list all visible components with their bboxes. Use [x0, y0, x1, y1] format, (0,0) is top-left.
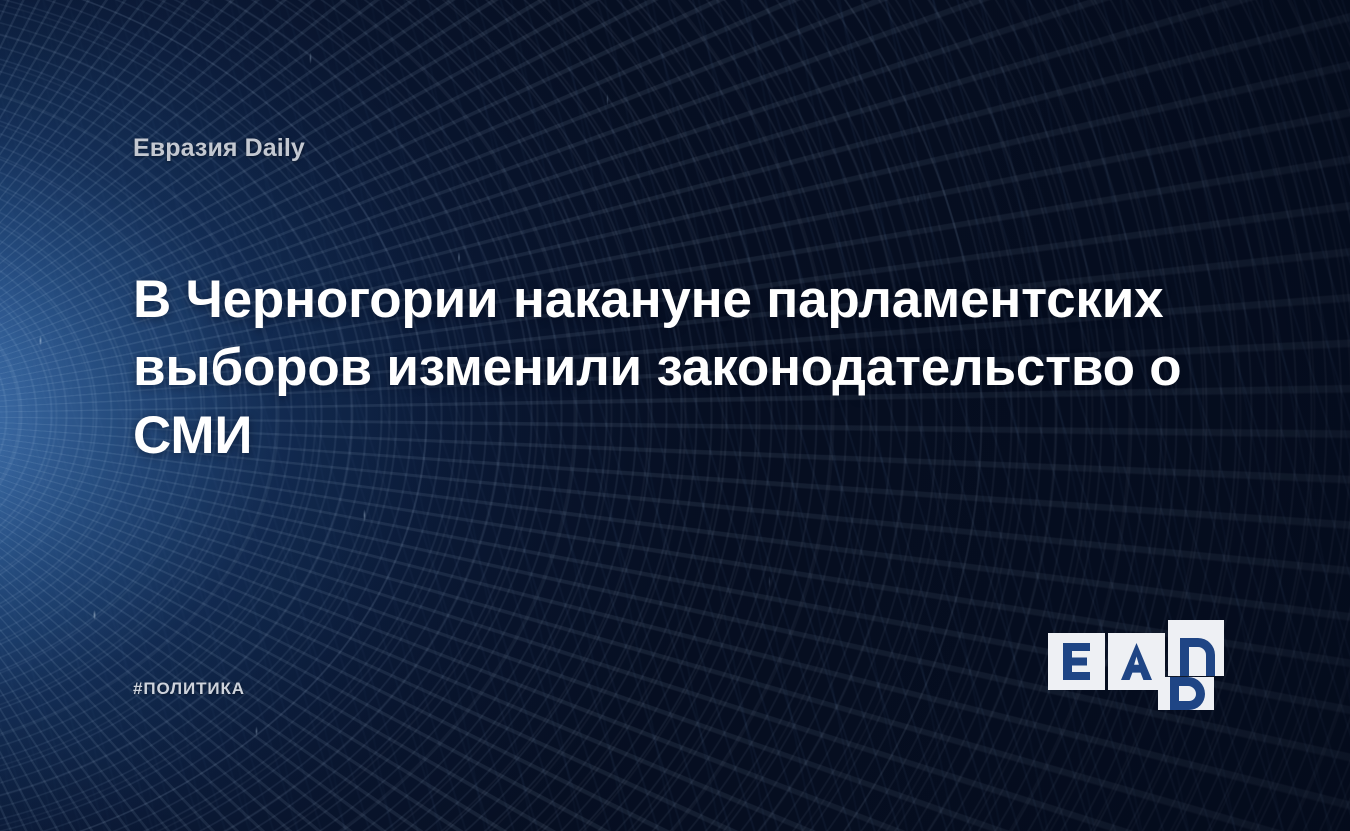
brand-name: Евразия Daily — [133, 134, 305, 163]
social-share-card: Евразия Daily В Черногории накануне парл… — [0, 0, 1350, 831]
logo-tile-d-bottom — [1158, 677, 1214, 710]
logo-tile-e — [1048, 633, 1105, 690]
logo-tile-d-top — [1168, 620, 1224, 676]
page-title: В Черногории накануне парламентских выбо… — [133, 266, 1208, 470]
card-content: Евразия Daily В Черногории накануне парл… — [0, 0, 1350, 831]
eadaily-logo[interactable] — [1048, 620, 1224, 710]
logo-tile-a — [1108, 633, 1165, 690]
category-tag[interactable]: #ПОЛИТИКА — [133, 679, 245, 699]
